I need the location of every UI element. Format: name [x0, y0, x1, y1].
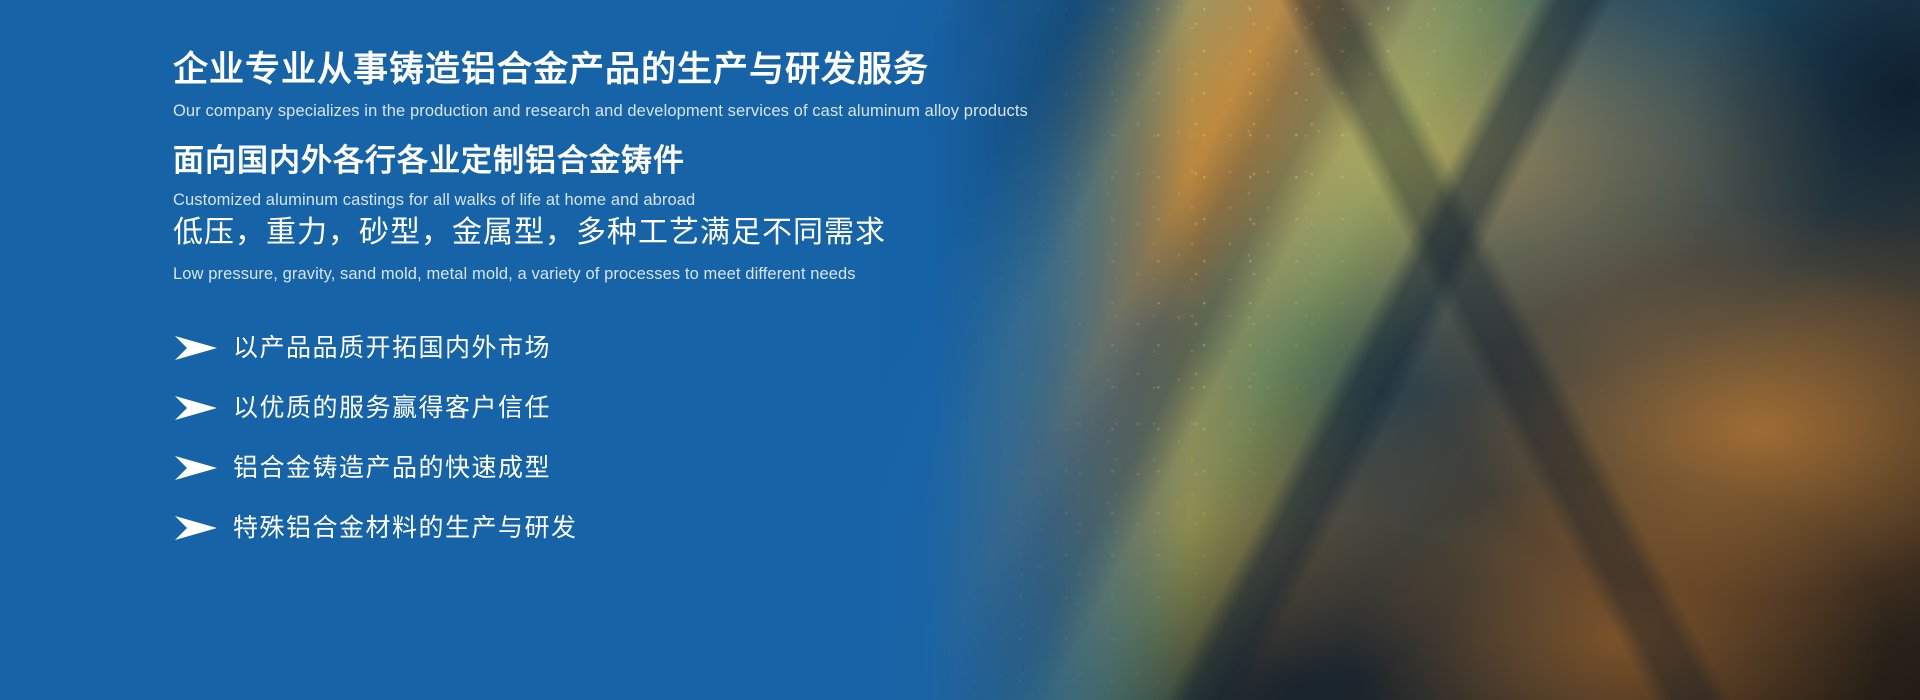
headline-block-1: 企业专业从事铸造铝合金产品的生产与研发服务 Our company specia… — [173, 52, 1028, 120]
list-item: 铝合金铸造产品的快速成型 — [173, 438, 578, 498]
headline-block-3: 低压，重力，砂型，金属型，多种工艺满足不同需求 Low pressure, gr… — [173, 218, 886, 283]
headline-3-cn: 低压，重力，砂型，金属型，多种工艺满足不同需求 — [173, 218, 886, 248]
arrow-right-icon — [173, 335, 219, 361]
list-item: 以产品品质开拓国内外市场 — [173, 318, 578, 378]
arrow-right-icon — [173, 455, 219, 481]
list-item: 以优质的服务赢得客户信任 — [173, 378, 578, 438]
headline-2-cn: 面向国内外各行各业定制铝合金铸件 — [173, 145, 695, 176]
list-item-label: 特殊铝合金材料的生产与研发 — [233, 516, 578, 541]
headline-block-2: 面向国内外各行各业定制铝合金铸件 Customized aluminum cas… — [173, 145, 695, 209]
arrow-right-icon — [173, 395, 219, 421]
banner-content: 企业专业从事铸造铝合金产品的生产与研发服务 Our company specia… — [0, 0, 1200, 700]
feature-bullet-list: 以产品品质开拓国内外市场 以优质的服务赢得客户信任 铝合金铸造产品的快速成型 — [173, 318, 578, 558]
arrow-right-icon — [173, 515, 219, 541]
headline-1-cn: 企业专业从事铸造铝合金产品的生产与研发服务 — [173, 52, 1028, 87]
headline-3-en: Low pressure, gravity, sand mold, metal … — [173, 266, 886, 283]
list-item-label: 以优质的服务赢得客户信任 — [233, 396, 551, 421]
list-item-label: 以产品品质开拓国内外市场 — [233, 336, 551, 361]
list-item: 特殊铝合金材料的生产与研发 — [173, 498, 578, 558]
headline-1-en: Our company specializes in the productio… — [173, 103, 1028, 120]
list-item-label: 铝合金铸造产品的快速成型 — [233, 456, 551, 481]
headline-2-en: Customized aluminum castings for all wal… — [173, 192, 695, 209]
hero-banner: 企业专业从事铸造铝合金产品的生产与研发服务 Our company specia… — [0, 0, 1920, 700]
